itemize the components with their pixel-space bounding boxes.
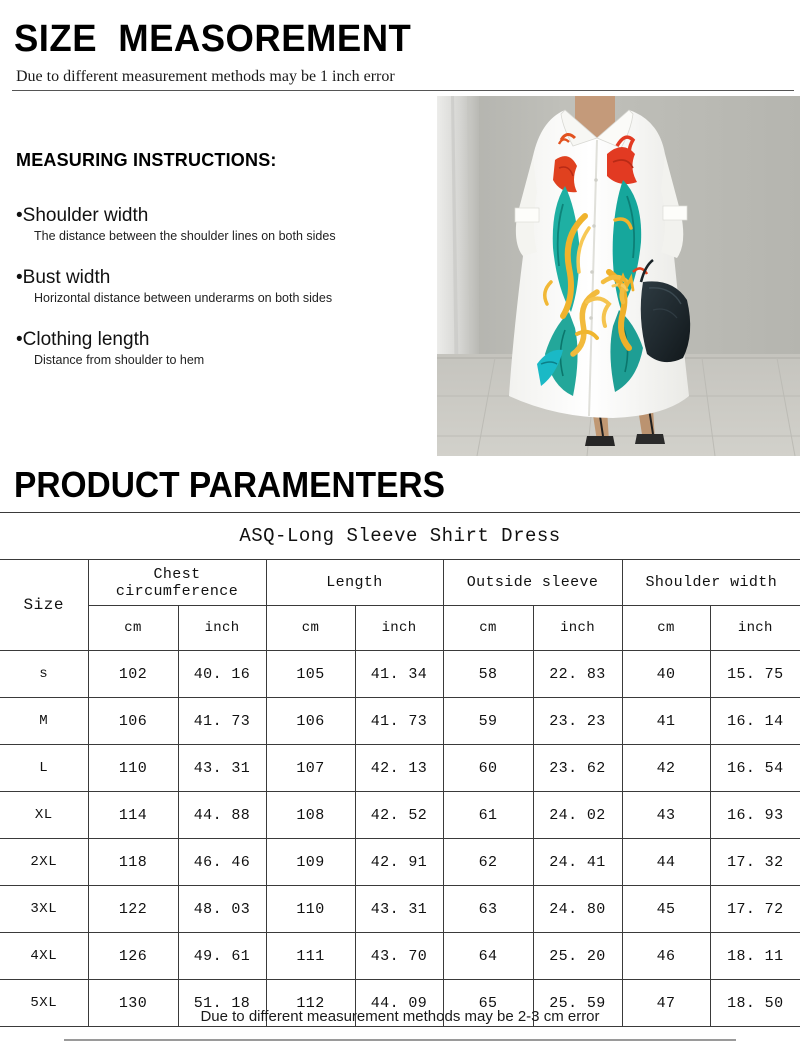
cell-value: 16. 93 bbox=[710, 792, 800, 839]
spec-table-container: ASQ-Long Sleeve Shirt Dress Size Chest c… bbox=[0, 512, 800, 1027]
cell-value: 41. 73 bbox=[355, 698, 443, 745]
cell-value: 59 bbox=[443, 698, 533, 745]
table-header-unit-row: cm inch cm inch cm inch cm inch bbox=[0, 606, 800, 651]
cell-value: 41. 34 bbox=[355, 651, 443, 698]
table-row: 2XL 118 46. 46 109 42. 91 62 24. 41 44 1… bbox=[0, 839, 800, 886]
cell-value: 23. 23 bbox=[533, 698, 622, 745]
cell-value: 15. 75 bbox=[710, 651, 800, 698]
product-parameters-title: PRODUCT PARAMENTERS bbox=[14, 464, 445, 506]
cell-value: 61 bbox=[443, 792, 533, 839]
table-caption-row: ASQ-Long Sleeve Shirt Dress bbox=[0, 513, 800, 560]
cell-value: 42. 52 bbox=[355, 792, 443, 839]
header-divider bbox=[12, 90, 794, 91]
cell-value: 17. 32 bbox=[710, 839, 800, 886]
cell-value: 43. 31 bbox=[355, 886, 443, 933]
cell-value: 60 bbox=[443, 745, 533, 792]
cell-value: 126 bbox=[88, 933, 178, 980]
header-unit: inch bbox=[710, 606, 800, 651]
header-unit: inch bbox=[355, 606, 443, 651]
header-unit: inch bbox=[178, 606, 266, 651]
cell-value: 118 bbox=[88, 839, 178, 886]
cell-value: 25. 20 bbox=[533, 933, 622, 980]
cell-value: 22. 83 bbox=[533, 651, 622, 698]
size-measurement-subtitle: Due to different measurement methods may… bbox=[16, 68, 395, 86]
cell-value: 23. 62 bbox=[533, 745, 622, 792]
footer-divider bbox=[64, 1039, 736, 1041]
table-caption: ASQ-Long Sleeve Shirt Dress bbox=[0, 513, 800, 560]
cell-value: 44 bbox=[622, 839, 710, 886]
instruction-description: Distance from shoulder to hem bbox=[34, 353, 426, 367]
cell-value: 40 bbox=[622, 651, 710, 698]
cell-value: 46 bbox=[622, 933, 710, 980]
cell-size: XL bbox=[0, 792, 88, 839]
header-size: Size bbox=[0, 560, 88, 651]
table-row: XL 114 44. 88 108 42. 52 61 24. 02 43 16… bbox=[0, 792, 800, 839]
cell-value: 110 bbox=[266, 886, 355, 933]
table-row: M 106 41. 73 106 41. 73 59 23. 23 41 16.… bbox=[0, 698, 800, 745]
cell-value: 24. 02 bbox=[533, 792, 622, 839]
cell-value: 109 bbox=[266, 839, 355, 886]
cell-value: 58 bbox=[443, 651, 533, 698]
cell-value: 102 bbox=[88, 651, 178, 698]
table-row: 4XL 126 49. 61 111 43. 70 64 25. 20 46 1… bbox=[0, 933, 800, 980]
header-unit: cm bbox=[622, 606, 710, 651]
cell-value: 24. 80 bbox=[533, 886, 622, 933]
cell-value: 106 bbox=[88, 698, 178, 745]
table-row: L 110 43. 31 107 42. 13 60 23. 62 42 16.… bbox=[0, 745, 800, 792]
footer-note: Due to different measurement methods may… bbox=[0, 1008, 800, 1025]
cell-value: 40. 16 bbox=[178, 651, 266, 698]
header-chest-circumference: Chest circumference bbox=[88, 560, 266, 606]
cell-value: 16. 14 bbox=[710, 698, 800, 745]
cell-value: 17. 72 bbox=[710, 886, 800, 933]
list-item: •Clothing length Distance from shoulder … bbox=[16, 329, 426, 367]
cell-value: 48. 03 bbox=[178, 886, 266, 933]
header-length: Length bbox=[266, 560, 443, 606]
instruction-term: •Shoulder width bbox=[16, 205, 426, 227]
cell-size: L bbox=[0, 745, 88, 792]
instruction-term: •Clothing length bbox=[16, 329, 426, 351]
header-unit: cm bbox=[88, 606, 178, 651]
cell-value: 110 bbox=[88, 745, 178, 792]
cell-value: 105 bbox=[266, 651, 355, 698]
cell-value: 63 bbox=[443, 886, 533, 933]
cell-value: 42. 13 bbox=[355, 745, 443, 792]
cell-value: 16. 54 bbox=[710, 745, 800, 792]
header-unit: inch bbox=[533, 606, 622, 651]
table-header-group-row: Size Chest circumference Length Outside … bbox=[0, 560, 800, 606]
cell-value: 18. 11 bbox=[710, 933, 800, 980]
cell-value: 41 bbox=[622, 698, 710, 745]
header-unit: cm bbox=[266, 606, 355, 651]
list-item: •Bust width Horizontal distance between … bbox=[16, 267, 426, 305]
cell-value: 45 bbox=[622, 886, 710, 933]
measuring-instructions-heading: MEASURING INSTRUCTIONS: bbox=[16, 150, 277, 171]
cell-size: s bbox=[0, 651, 88, 698]
cell-value: 106 bbox=[266, 698, 355, 745]
product-photo bbox=[437, 96, 800, 456]
product-photo-illustration bbox=[437, 96, 800, 456]
cell-value: 122 bbox=[88, 886, 178, 933]
header-outside-sleeve: Outside sleeve bbox=[443, 560, 622, 606]
list-item: •Shoulder width The distance between the… bbox=[16, 205, 426, 243]
cell-value: 107 bbox=[266, 745, 355, 792]
header-unit: cm bbox=[443, 606, 533, 651]
cell-value: 46. 46 bbox=[178, 839, 266, 886]
spec-table: ASQ-Long Sleeve Shirt Dress Size Chest c… bbox=[0, 512, 800, 1027]
cell-size: 4XL bbox=[0, 933, 88, 980]
cell-value: 43. 31 bbox=[178, 745, 266, 792]
measuring-instructions-list: •Shoulder width The distance between the… bbox=[16, 205, 426, 391]
cell-value: 49. 61 bbox=[178, 933, 266, 980]
size-measurement-title: SIZE MEASOREMENT bbox=[14, 18, 411, 61]
cell-value: 111 bbox=[266, 933, 355, 980]
header-shoulder-width: Shoulder width bbox=[622, 560, 800, 606]
cell-value: 24. 41 bbox=[533, 839, 622, 886]
cell-size: 2XL bbox=[0, 839, 88, 886]
cell-value: 114 bbox=[88, 792, 178, 839]
cell-value: 43. 70 bbox=[355, 933, 443, 980]
cell-value: 42. 91 bbox=[355, 839, 443, 886]
instruction-description: The distance between the shoulder lines … bbox=[34, 229, 426, 243]
cell-value: 41. 73 bbox=[178, 698, 266, 745]
instruction-term: •Bust width bbox=[16, 267, 426, 289]
table-row: 3XL 122 48. 03 110 43. 31 63 24. 80 45 1… bbox=[0, 886, 800, 933]
cell-value: 44. 88 bbox=[178, 792, 266, 839]
cell-value: 64 bbox=[443, 933, 533, 980]
instruction-description: Horizontal distance between underarms on… bbox=[34, 291, 426, 305]
table-row: s 102 40. 16 105 41. 34 58 22. 83 40 15.… bbox=[0, 651, 800, 698]
cell-value: 62 bbox=[443, 839, 533, 886]
cell-value: 43 bbox=[622, 792, 710, 839]
cell-size: M bbox=[0, 698, 88, 745]
cell-value: 108 bbox=[266, 792, 355, 839]
cell-size: 3XL bbox=[0, 886, 88, 933]
cell-value: 42 bbox=[622, 745, 710, 792]
